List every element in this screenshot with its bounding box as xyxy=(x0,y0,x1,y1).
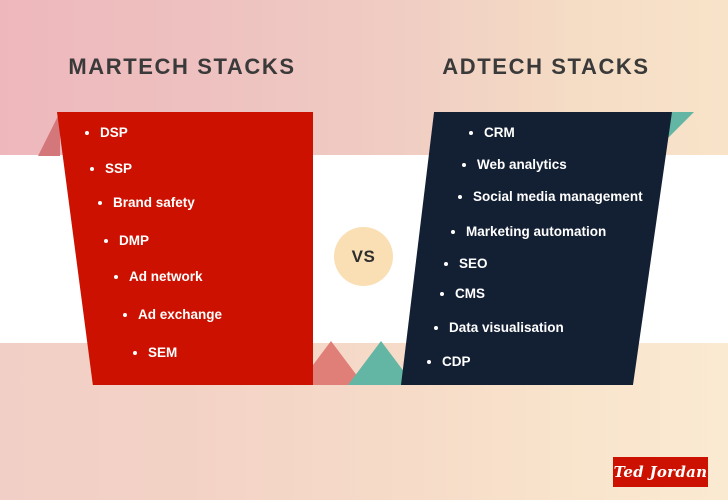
bullet-icon xyxy=(85,131,89,135)
list-item-label: Marketing automation xyxy=(466,225,606,239)
list-item-label: SEO xyxy=(459,257,488,271)
bullet-icon xyxy=(462,163,466,167)
martech-list: DSP SSP Brand safety DMP Ad network Ad e… xyxy=(57,112,313,385)
bullet-icon xyxy=(440,292,444,296)
list-item-label: Ad exchange xyxy=(138,308,222,322)
bullet-icon xyxy=(469,131,473,135)
bullet-icon xyxy=(458,195,462,199)
list-item: DMP xyxy=(104,234,149,248)
bullet-icon xyxy=(451,230,455,234)
martech-panel: DSP SSP Brand safety DMP Ad network Ad e… xyxy=(57,112,313,385)
bullet-icon xyxy=(104,239,108,243)
right-column-heading: ADTECH STACKS xyxy=(364,54,728,80)
adtech-panel: CRM Web analytics Social media managemen… xyxy=(401,112,672,385)
list-item-label: Ad network xyxy=(129,270,203,284)
list-item-label: SSP xyxy=(105,162,132,176)
list-item: CDP xyxy=(427,355,471,369)
bullet-icon xyxy=(444,262,448,266)
list-item: Marketing automation xyxy=(451,225,606,239)
list-item: SEM xyxy=(133,346,177,360)
list-item: Brand safety xyxy=(98,196,195,210)
list-item-label: CDP xyxy=(442,355,471,369)
list-item: Ad network xyxy=(114,270,203,284)
bullet-icon xyxy=(434,326,438,330)
list-item-label: Data visualisation xyxy=(449,321,564,335)
list-item: CMS xyxy=(440,287,485,301)
list-item-label: SEM xyxy=(148,346,177,360)
brand-logo-text: Ted Jordan xyxy=(614,463,708,481)
list-item-label: Web analytics xyxy=(477,158,567,172)
bullet-icon xyxy=(123,313,127,317)
left-accent-triangle-top xyxy=(38,112,60,156)
bullet-icon xyxy=(90,167,94,171)
list-item-label: CRM xyxy=(484,126,515,140)
infographic-canvas: MARTECH STACKS ADTECH STACKS DSP SSP Bra… xyxy=(0,0,728,500)
list-item: SEO xyxy=(444,257,488,271)
list-item-label: Social media management xyxy=(473,190,643,204)
left-column-heading: MARTECH STACKS xyxy=(0,54,364,80)
bullet-icon xyxy=(114,275,118,279)
adtech-list: CRM Web analytics Social media managemen… xyxy=(401,112,672,385)
list-item-label: DSP xyxy=(100,126,128,140)
list-item-label: DMP xyxy=(119,234,149,248)
bullet-icon xyxy=(133,351,137,355)
list-item: Social media management xyxy=(458,190,643,204)
list-item: DSP xyxy=(85,126,128,140)
list-item: Data visualisation xyxy=(434,321,564,335)
brand-logo: Ted Jordan xyxy=(613,457,708,487)
list-item: CRM xyxy=(469,126,515,140)
versus-badge: VS xyxy=(334,227,393,286)
list-item-label: CMS xyxy=(455,287,485,301)
bullet-icon xyxy=(427,360,431,364)
list-item: Ad exchange xyxy=(123,308,222,322)
list-item-label: Brand safety xyxy=(113,196,195,210)
list-item: SSP xyxy=(90,162,132,176)
list-item: Web analytics xyxy=(462,158,567,172)
bullet-icon xyxy=(98,201,102,205)
